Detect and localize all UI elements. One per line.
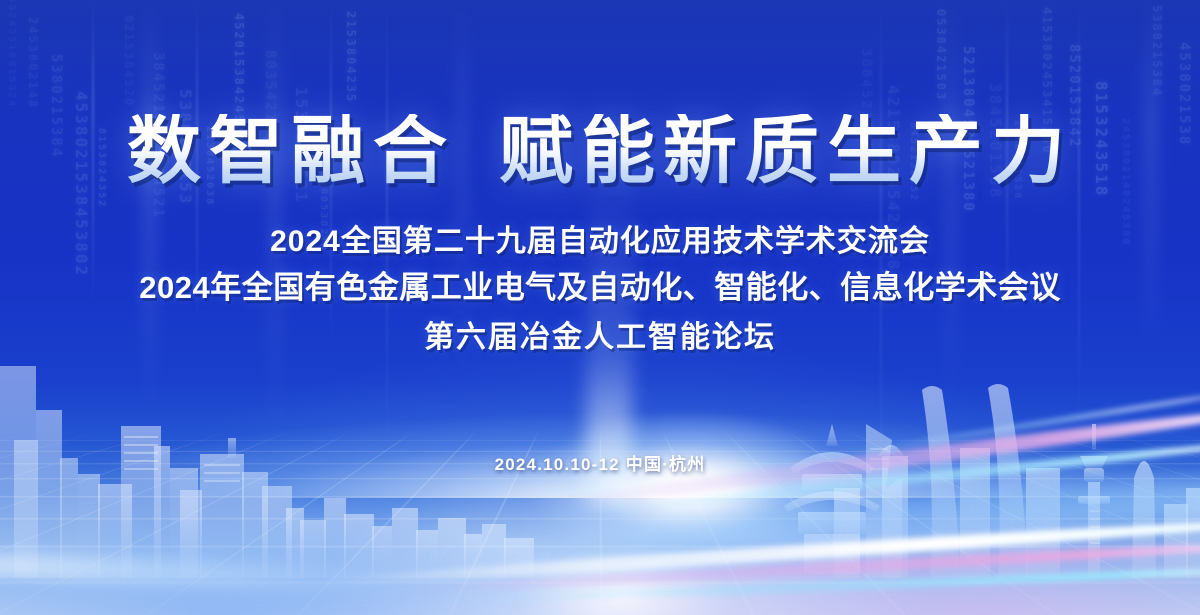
event-date-location: 2024.10.10-12 中国·杭州 <box>0 450 1200 475</box>
conference-banner: 8153243518815324245380214853802153844538… <box>0 0 1200 615</box>
banner-text-content: 数智融合赋能新质生产力 2024全国第二十九届自动化应用技术学术交流会 2024… <box>0 0 1200 615</box>
subtitle-line-2: 2024年全国有色金属工业电气及自动化、智能化、信息化学术会议 <box>0 262 1200 307</box>
main-title-phrase-1: 数智融合 <box>127 109 455 192</box>
main-title-phrase-2: 赋能新质生产力 <box>499 109 1073 192</box>
main-title: 数智融合赋能新质生产力 <box>0 114 1200 188</box>
subtitle-line-3: 第六届冶金人工智能论坛 <box>0 312 1200 356</box>
subtitle-line-1: 2024全国第二十九届自动化应用技术学术交流会 <box>0 216 1200 260</box>
